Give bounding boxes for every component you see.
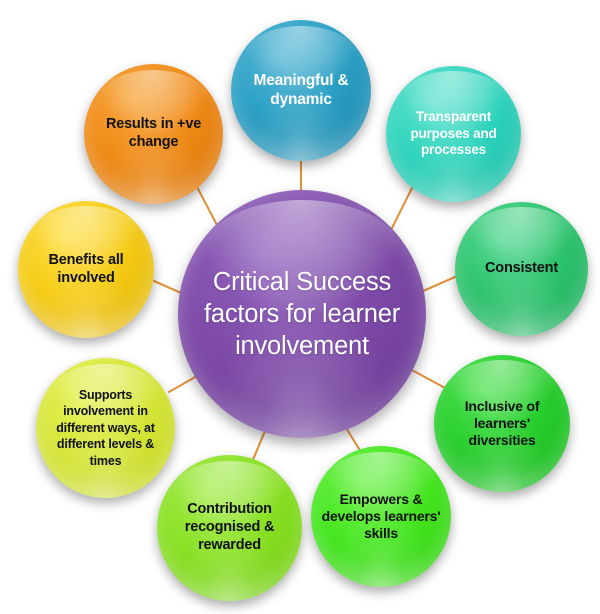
node-label: Results in +ve change <box>84 116 223 151</box>
connector-inclusive <box>410 369 447 389</box>
node-label: Consistent <box>479 260 564 278</box>
node-contribution-recognised-and-rewarded[interactable]: Contribution recognised & rewarded <box>157 455 302 601</box>
node-results-in-positive-change[interactable]: Results in +ve change <box>84 64 223 204</box>
connector-results <box>196 185 218 227</box>
node-meaningful-and-dynamic[interactable]: Meaningful & dynamic <box>231 20 371 161</box>
node-transparent-purposes-and-processes[interactable]: Transparent purposes and processes <box>386 66 521 202</box>
node-label: Supports involvement in different ways, … <box>36 387 175 470</box>
center-node-label: Critical Success factors for learner inv… <box>178 266 426 362</box>
node-label: Inclusive of learners' diversities <box>434 398 570 449</box>
node-empowers-and-develops-learners-skills[interactable]: Empowers & develops learners' skills <box>311 446 451 587</box>
node-inclusive-of-learners-diversities[interactable]: Inclusive of learners' diversities <box>434 355 570 492</box>
node-supports-involvement-in-different-ways[interactable]: Supports involvement in different ways, … <box>36 358 175 498</box>
node-label: Transparent purposes and processes <box>386 109 521 158</box>
connector-transparent <box>390 188 412 232</box>
node-label: Meaningful & dynamic <box>231 72 371 110</box>
diagram-canvas: Critical Success factors for learner inv… <box>0 0 600 614</box>
node-label: Benefits all involved <box>18 252 154 287</box>
node-label: Empowers & develops learners' skills <box>311 491 451 542</box>
center-node-critical-success-factors[interactable]: Critical Success factors for learner inv… <box>178 190 426 438</box>
node-label: Contribution recognised & rewarded <box>157 501 302 554</box>
node-consistent[interactable]: Consistent <box>455 202 588 336</box>
node-benefits-all-involved[interactable]: Benefits all involved <box>18 201 154 338</box>
